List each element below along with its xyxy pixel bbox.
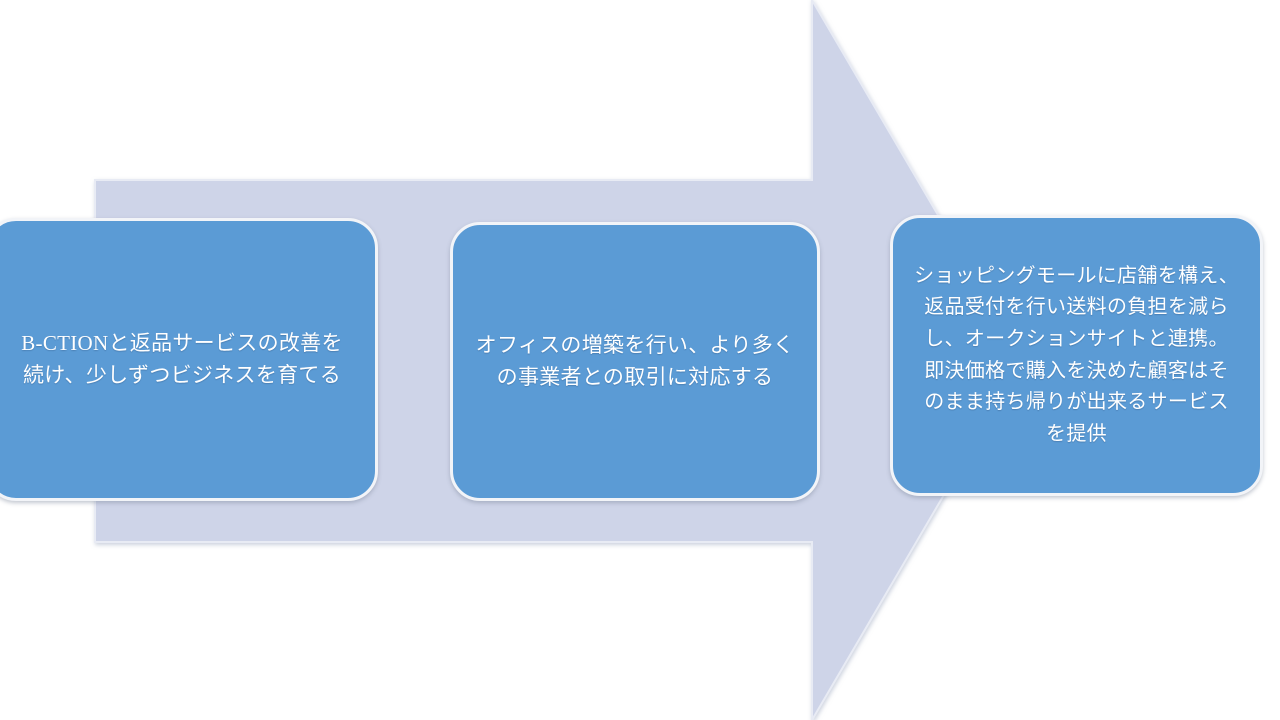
process-box-1-label: B-CTIONと返品サービスの改善を 続け、少しずつビジネスを育てる bbox=[7, 328, 357, 392]
process-box-3[interactable]: ショッピングモールに店舗を構え、 返品受付を行い送料の負担を減ら し、オークショ… bbox=[890, 215, 1263, 496]
process-box-1[interactable]: B-CTIONと返品サービスの改善を 続け、少しずつビジネスを育てる bbox=[0, 218, 378, 501]
diagram-canvas: B-CTIONと返品サービスの改善を 続け、少しずつビジネスを育てる オフィスの… bbox=[0, 0, 1280, 720]
process-box-2-label: オフィスの増築を行い、より多く の事業者との取引に対応する bbox=[462, 330, 809, 394]
process-box-2[interactable]: オフィスの増築を行い、より多く の事業者との取引に対応する bbox=[450, 222, 820, 501]
process-box-3-label: ショッピングモールに店舗を構え、 返品受付を行い送料の負担を減ら し、オークショ… bbox=[900, 261, 1253, 451]
